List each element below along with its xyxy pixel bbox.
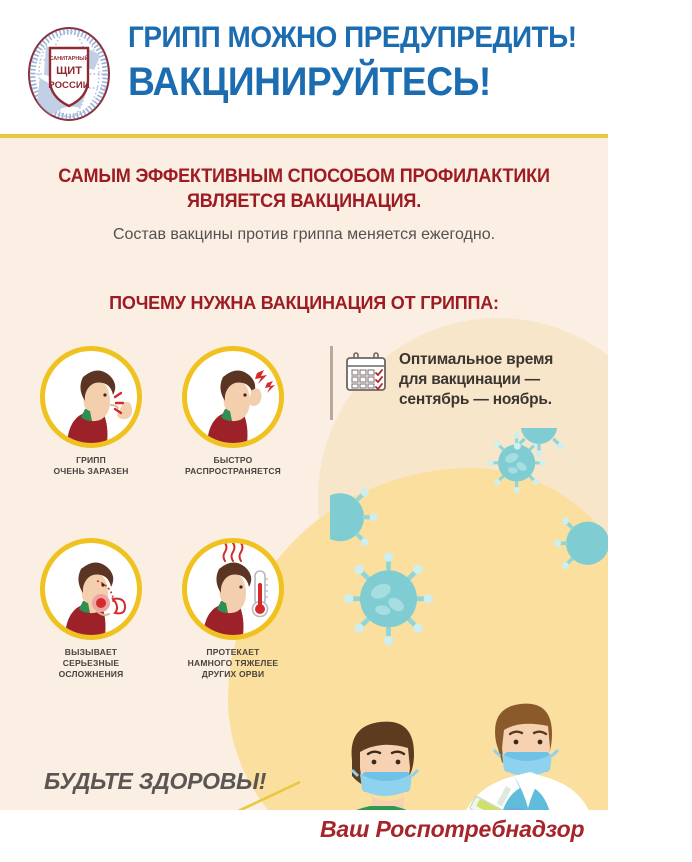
caption-line: РАСПРОСТРАНЯЕТСЯ: [168, 466, 298, 477]
virus-particle-icon: [330, 428, 608, 645]
header-line-2: ВАКЦИНИРУЙТЕСЬ!: [128, 58, 565, 106]
caption-line: ОЧЕНЬ ЗАРАЗЕН: [26, 466, 156, 477]
logo-text-line1: САНИТАРНЫЙ: [50, 54, 89, 62]
icon-cell-serious-complications: ВЫЗЫВАЕТ СЕРЬЕЗНЫЕ ОСЛОЖНЕНИЯ: [26, 538, 156, 680]
caption-line: НАМНОГО ТЯЖЕЛЕЕ: [168, 658, 298, 669]
doctor-vaccinating-patient-illustration: [300, 668, 608, 810]
icon-cell-spreads-fast: БЫСТРО РАСПРОСТРАНЯЕТСЯ: [168, 346, 298, 477]
be-healthy-text: БУДЬТЕ ЗДОРОВЫ!: [44, 768, 266, 795]
person-coughing-icon: [40, 346, 142, 448]
poster-header: САНИТАРНЫЙ ЩИТ РОССИИ ГРИПП МОЖНО ПРЕДУП…: [0, 0, 608, 136]
caption-line: ГРИПП: [26, 455, 156, 466]
optimal-time-note: Оптимальное время для вакцинации — сентя…: [330, 346, 580, 420]
note-line-3: сентябрь — ноябрь.: [399, 390, 553, 410]
patient-figure: [304, 722, 452, 810]
caption-line: ВЫЗЫВАЕТ: [26, 647, 156, 658]
main-panel: САМЫМ ЭФФЕКТИВНЫМ СПОСОБОМ ПРОФИЛАКТИКИ …: [0, 138, 608, 810]
calendar-checked-icon: [343, 346, 389, 420]
lead-text-block: САМЫМ ЭФФЕКТИВНЫМ СПОСОБОМ ПРОФИЛАКТИКИ …: [0, 164, 608, 245]
lead-line-2: ЯВЛЯЕТСЯ ВАКЦИНАЦИЯ.: [15, 189, 593, 214]
note-line-2: для вакцинации —: [399, 370, 553, 390]
logo-text-line2: ЩИТ: [56, 65, 82, 77]
person-sore-throat-icon: [40, 538, 142, 640]
icon-cell-flu-contagious: ГРИПП ОЧЕНЬ ЗАРАЗЕН: [26, 346, 156, 477]
caption-line: СЕРЬЕЗНЫЕ: [26, 658, 156, 669]
icon-caption: БЫСТРО РАСПРОСТРАНЯЕТСЯ: [168, 455, 298, 477]
person-headache-icon: [182, 346, 284, 448]
rospotrebnadzor-signature: Ваш Роспотребнадзор: [320, 816, 584, 843]
icon-caption: ВЫЗЫВАЕТ СЕРЬЕЗНЫЕ ОСЛОЖНЕНИЯ: [26, 647, 156, 680]
header-line-1: ГРИПП МОЖНО ПРЕДУПРЕДИТЬ!: [128, 18, 565, 58]
caption-line: БЫСТРО: [168, 455, 298, 466]
note-accent-bar: [330, 346, 333, 420]
logo-text-line3: РОССИИ: [48, 80, 89, 91]
icon-cell-harder-than-ari: ПРОТЕКАЕТ НАМНОГО ТЯЖЕЛЕЕ ДРУГИХ ОРВИ: [168, 538, 298, 680]
icon-caption: ПРОТЕКАЕТ НАМНОГО ТЯЖЕЛЕЕ ДРУГИХ ОРВИ: [168, 647, 298, 680]
caption-line: ДРУГИХ ОРВИ: [168, 669, 298, 680]
lead-line-1: САМЫМ ЭФФЕКТИВНЫМ СПОСОБОМ ПРОФИЛАКТИКИ: [15, 164, 593, 189]
why-heading: ПОЧЕМУ НУЖНА ВАКЦИНАЦИЯ ОТ ГРИППА:: [0, 293, 608, 314]
header-title-block: ГРИПП МОЖНО ПРЕДУПРЕДИТЬ! ВАКЦИНИРУЙТЕСЬ…: [128, 18, 598, 106]
note-line-1: Оптимальное время: [399, 350, 553, 370]
virus-particles-group: [330, 428, 608, 688]
sanitary-shield-russia-logo: САНИТАРНЫЙ ЩИТ РОССИИ: [20, 22, 118, 126]
lead-subtitle: Состав вакцины против гриппа меняется еж…: [0, 224, 608, 245]
caption-line: ПРОТЕКАЕТ: [168, 647, 298, 658]
person-fever-thermometer-icon: [182, 538, 284, 640]
note-text: Оптимальное время для вакцинации — сентя…: [399, 346, 553, 420]
icon-caption: ГРИПП ОЧЕНЬ ЗАРАЗЕН: [26, 455, 156, 477]
caption-line: ОСЛОЖНЕНИЯ: [26, 669, 156, 680]
poster-root: САНИТАРНЫЙ ЩИТ РОССИИ ГРИПП МОЖНО ПРЕДУП…: [0, 0, 692, 862]
